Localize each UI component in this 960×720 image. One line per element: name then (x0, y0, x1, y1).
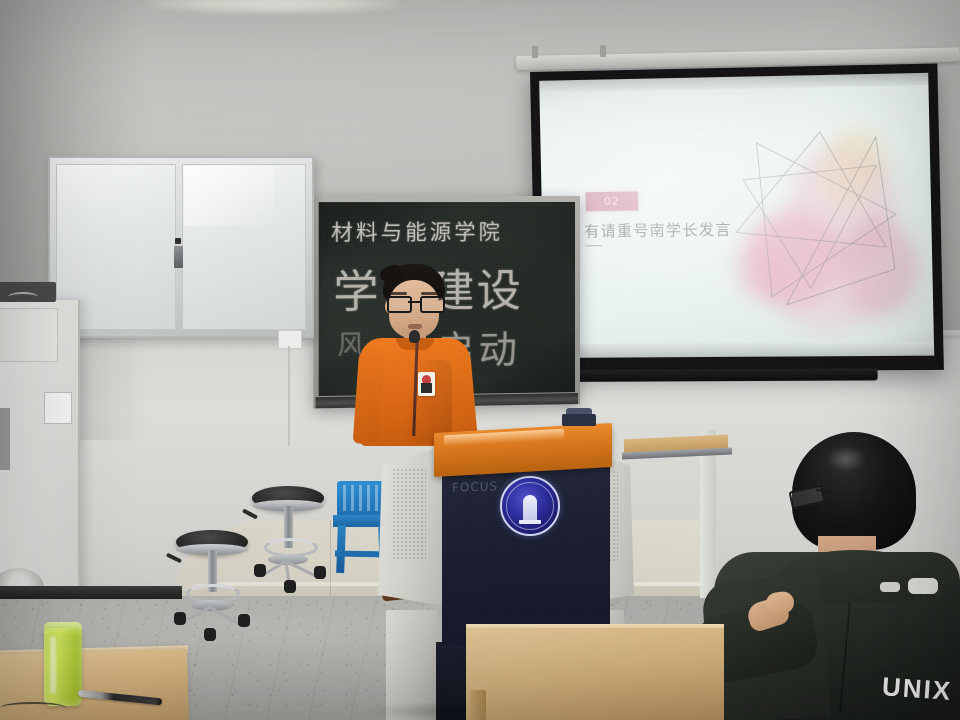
podium-brand-text: FOCUS (452, 479, 498, 495)
wall-object-cable-loop (908, 578, 938, 594)
stool-caster (284, 580, 296, 593)
screen-weight-bar (542, 368, 878, 382)
appliance-label (44, 392, 72, 424)
slide-badge-number: 02 (604, 195, 620, 208)
platform-tile-line-1 (330, 520, 331, 598)
screen-top-band (539, 73, 928, 93)
presenter-name-badge (418, 372, 435, 396)
presenter-mouth (408, 324, 422, 329)
wall-cable (288, 346, 290, 446)
appliance-panel (0, 308, 58, 362)
microphone-head-icon (409, 330, 420, 343)
appliance-slot (0, 408, 10, 470)
slide-underline-rule (586, 245, 602, 246)
presenter-eyebrow-right (421, 292, 439, 295)
presenter-glasses-icon (387, 296, 441, 309)
front-right-desk-leg (470, 690, 486, 720)
podium-control-panel[interactable] (562, 414, 596, 426)
cabinet-handle[interactable] (174, 246, 183, 268)
stool-caster (238, 614, 250, 627)
projection-screen-surface: 02 有请重号南学长发言 (539, 73, 934, 358)
stool-caster (314, 566, 326, 579)
audience-jacket-text: UNIX (881, 671, 960, 708)
blackboard-line-1: 材料与能源学院 (331, 216, 503, 247)
stool-caster (174, 612, 186, 625)
classroom-photo-scene: 02 有请重号南学长发言 (0, 0, 960, 720)
appliance-cord (8, 292, 38, 302)
presenter-eyebrow-left (389, 292, 407, 295)
chair-leg-front (336, 525, 346, 573)
slide-watercolor-graphic (721, 116, 910, 317)
left-floor-appliance (0, 300, 80, 600)
front-right-desk (466, 628, 724, 720)
slide-title: 有请重号南学长发言 (584, 218, 732, 241)
seated-audience-member: UNIX (706, 432, 960, 720)
metal-wall-cabinet[interactable] (48, 156, 314, 338)
roller-bracket-left (532, 46, 538, 58)
slide-geometric-lines-icon (721, 116, 910, 317)
water-bottle-highlight (50, 636, 56, 694)
desk-cord (0, 702, 66, 714)
podium-speaker-grille-left (392, 468, 426, 560)
university-crest-emblem (500, 476, 560, 536)
projection-screen: 02 有请重号南学长发言 (530, 63, 944, 372)
stool-caster (254, 564, 266, 577)
cabinet-door-right[interactable] (182, 164, 306, 330)
baseboard-left (0, 586, 182, 599)
slide-section-badge: 02 (586, 191, 639, 211)
cabinet-lock-dot (175, 238, 181, 244)
audience-hair-highlight (826, 446, 866, 472)
screen-bottom-band (545, 341, 935, 358)
wall-object-small (880, 582, 900, 592)
wall-outlet (278, 330, 302, 349)
roller-bracket-right (600, 45, 606, 57)
ceiling-light (150, 0, 400, 14)
stool-caster (204, 628, 216, 641)
